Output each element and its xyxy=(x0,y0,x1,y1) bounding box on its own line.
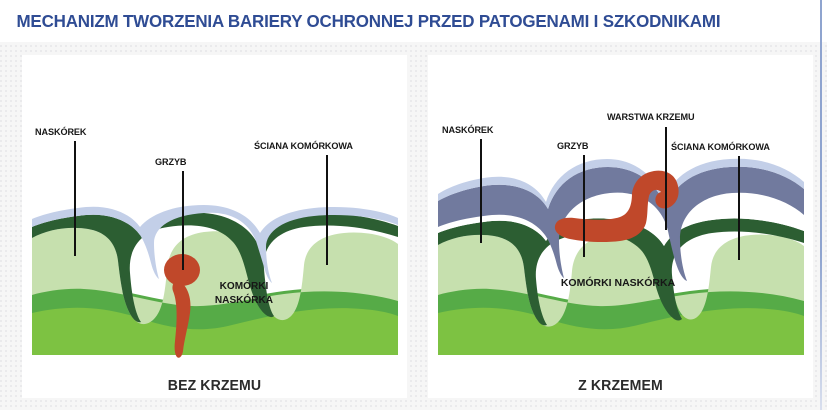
leader-line-grzyb xyxy=(182,171,184,270)
leader-line-naskorek xyxy=(74,141,76,256)
inner-label-line-2: NASKÓRKA xyxy=(215,293,274,306)
leader-line-sciana-komorkowa xyxy=(326,155,328,265)
label-naskorek: NASKÓREK xyxy=(35,127,86,138)
right-accent-rule xyxy=(820,0,822,410)
inner-label-line-1: KOMÓRKI NASKÓRKA xyxy=(561,276,676,289)
label-warstwa-krzemu: WARSTWA KRZEMU xyxy=(607,112,694,123)
caption-bez-krzemu: BEZ KRZEMU xyxy=(34,377,396,394)
leader-line-grzyb xyxy=(583,155,585,257)
label-sciana-komorkowa: ŚCIANA KOMÓRKOWA xyxy=(671,142,770,153)
page-root: MECHANIZM TWORZENIA BARIERY OCHRONNEJ PR… xyxy=(0,0,827,410)
inner-label-line-1: KOMÓRKI xyxy=(220,279,269,292)
title-bar: MECHANIZM TWORZENIA BARIERY OCHRONNEJ PR… xyxy=(0,0,827,42)
page-title: MECHANIZM TWORZENIA BARIERY OCHRONNEJ PR… xyxy=(0,11,720,32)
leader-line-sciana-komorkowa xyxy=(738,156,740,260)
label-grzyb: GRZYB xyxy=(155,157,186,168)
panel-z-krzemem: KOMÓRKI NASKÓRKA NASKÓREK GRZYB WARSTWA … xyxy=(428,55,813,398)
panel-bez-krzemu: KOMÓRKI NASKÓRKA NASKÓREK GRZYB ŚCIANA K… xyxy=(22,55,407,398)
label-sciana-komorkowa: ŚCIANA KOMÓRKOWA xyxy=(254,141,353,152)
caption-z-krzemem: Z KRZEMEM xyxy=(440,377,802,394)
label-naskorek: NASKÓREK xyxy=(442,125,493,136)
leader-line-warstwa-krzemu xyxy=(665,127,667,230)
leader-line-naskorek xyxy=(480,139,482,243)
label-grzyb: GRZYB xyxy=(557,141,588,152)
figure-z-krzemem: KOMÓRKI NASKÓRKA xyxy=(428,55,813,373)
figure-bez-krzemu: KOMÓRKI NASKÓRKA xyxy=(22,55,407,373)
